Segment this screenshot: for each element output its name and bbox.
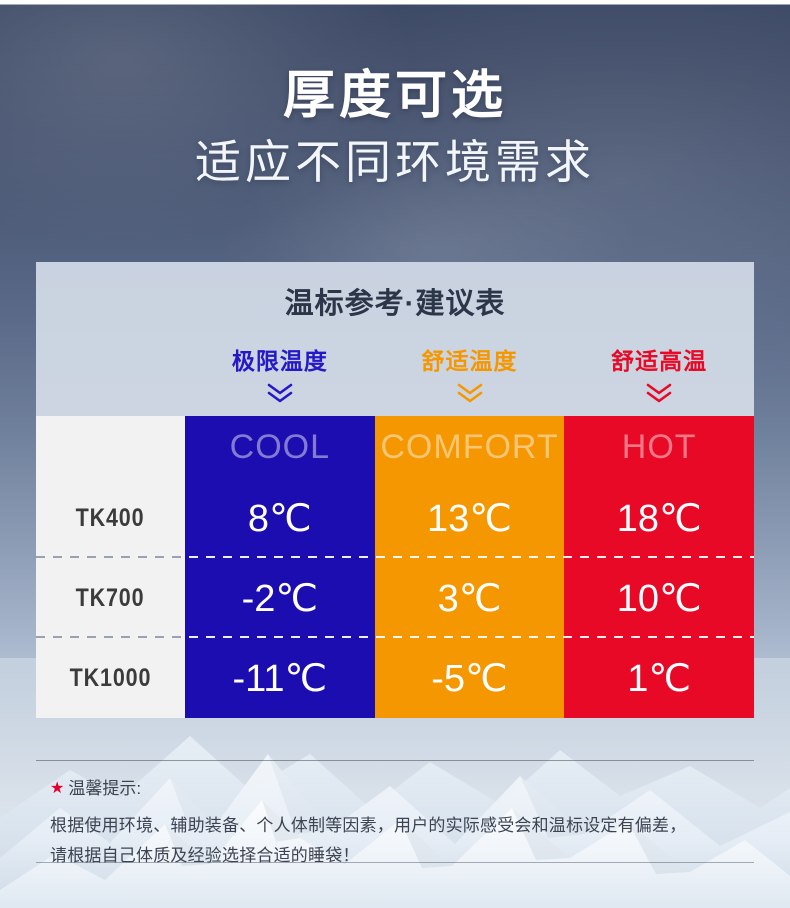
row-comfort-value: 13℃ bbox=[427, 496, 512, 541]
temperature-table: 温标参考·建议表 极限温度 舒适温度 bbox=[36, 262, 754, 718]
band-comfort: COMFORT bbox=[375, 416, 565, 478]
band-cool-label: COOL bbox=[230, 428, 330, 467]
table-row: TK400 8℃ 13℃ 18℃ bbox=[36, 478, 754, 558]
band-hot-label: HOT bbox=[622, 428, 697, 467]
star-icon: ★ bbox=[50, 781, 64, 797]
row-model-label: TK700 bbox=[76, 584, 145, 613]
table-header: 温标参考·建议表 极限温度 舒适温度 bbox=[36, 262, 754, 416]
column-header-spacer bbox=[36, 346, 185, 406]
row-cool-cell: 8℃ bbox=[185, 478, 375, 558]
band-cool: COOL bbox=[185, 416, 375, 478]
row-model-cell: TK700 bbox=[36, 558, 185, 638]
chevron-double-down-icon bbox=[564, 380, 754, 406]
row-comfort-cell: 13℃ bbox=[375, 478, 565, 558]
row-hot-cell: 10℃ bbox=[564, 558, 754, 638]
table-title: 温标参考·建议表 bbox=[36, 284, 754, 324]
chevron-double-down-icon bbox=[185, 380, 375, 406]
headline-sub: 适应不同环境需求 bbox=[0, 134, 790, 190]
column-header-limit-label: 极限温度 bbox=[185, 346, 375, 376]
headline-block: 厚度可选 适应不同环境需求 bbox=[0, 66, 790, 190]
note-title: 温馨提示: bbox=[68, 777, 141, 801]
note-title-row: ★ 温馨提示: bbox=[50, 777, 740, 801]
row-hot-value: 18℃ bbox=[617, 496, 702, 541]
row-comfort-value: 3℃ bbox=[438, 576, 502, 621]
note-line-2: 请根据自己体质及经验选择合适的睡袋！ bbox=[50, 841, 740, 871]
promo-page: 厚度可选 适应不同环境需求 温标参考·建议表 极限温度 舒适 bbox=[0, 0, 790, 908]
row-hot-cell: 18℃ bbox=[564, 478, 754, 558]
column-header-comfort-temp: 舒适温度 bbox=[375, 346, 565, 406]
column-header-high-temp: 舒适高温 bbox=[564, 346, 754, 406]
row-model-cell: TK1000 bbox=[36, 638, 185, 718]
column-header-high-label: 舒适高温 bbox=[564, 346, 754, 376]
row-comfort-value: -5℃ bbox=[431, 656, 507, 701]
row-cool-cell: -11℃ bbox=[185, 638, 375, 718]
row-model-label: TK1000 bbox=[70, 664, 152, 693]
column-header-comfort-label: 舒适温度 bbox=[375, 346, 565, 376]
row-hot-cell: 1℃ bbox=[564, 638, 754, 718]
row-cool-value: -11℃ bbox=[232, 656, 327, 701]
note-body: ★ 温馨提示: 根据使用环境、辅助装备、个人体制等因素，用户的实际感受会和温标设… bbox=[36, 761, 754, 881]
note-line-1: 根据使用环境、辅助装备、个人体制等因素，用户的实际感受会和温标设定有偏差， bbox=[50, 811, 740, 841]
row-comfort-cell: 3℃ bbox=[375, 558, 565, 638]
column-header-limit-temp: 极限温度 bbox=[185, 346, 375, 406]
row-comfort-cell: -5℃ bbox=[375, 638, 565, 718]
row-model-label: TK400 bbox=[76, 504, 145, 533]
chevron-double-down-icon bbox=[375, 380, 565, 406]
band-row: COOL COMFORT HOT bbox=[36, 416, 754, 478]
headline-main: 厚度可选 bbox=[0, 66, 790, 126]
row-cool-value: 8℃ bbox=[248, 496, 312, 541]
band-label-spacer bbox=[36, 416, 185, 478]
row-cool-value: -2℃ bbox=[242, 576, 318, 621]
band-comfort-label: COMFORT bbox=[380, 428, 558, 467]
row-cool-cell: -2℃ bbox=[185, 558, 375, 638]
row-hot-value: 1℃ bbox=[627, 656, 691, 701]
row-hot-value: 10℃ bbox=[617, 576, 702, 621]
row-model-cell: TK400 bbox=[36, 478, 185, 558]
band-hot: HOT bbox=[564, 416, 754, 478]
table-row: TK1000 -11℃ -5℃ 1℃ bbox=[36, 638, 754, 718]
note-bottom-divider bbox=[36, 862, 754, 863]
table-row: TK700 -2℃ 3℃ 10℃ bbox=[36, 558, 754, 638]
column-header-row: 极限温度 舒适温度 bbox=[36, 346, 754, 406]
